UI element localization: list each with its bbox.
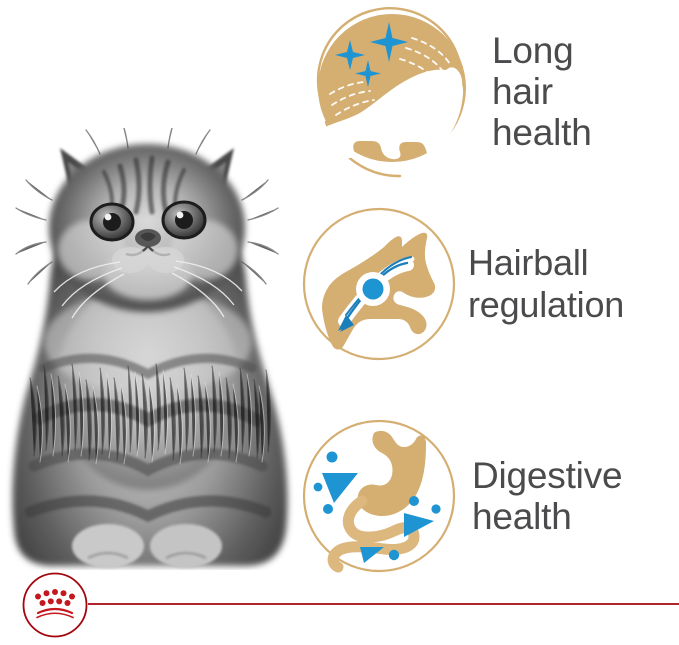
footer-brand [0,565,679,645]
benefit-item-long-hair-health: Long hair health [300,2,679,180]
benefit-label-long-hair-health: Long hair health [492,30,679,153]
hairball-cat-icon [300,205,458,363]
benefit-item-digestive-health: Digestive health [300,412,679,580]
persian-cat-photo [0,128,296,570]
benefit-label-hairball-regulation: Hairball regulation [468,242,679,326]
benefit-item-hairball-regulation: Hairball regulation [300,205,679,363]
benefit-label-digestive-health: Digestive health [472,455,679,537]
brand-crown-arcs [37,609,73,618]
long-hair-cat-icon [300,2,478,180]
brand-logo-ring [24,574,87,637]
promo-panel: Long hair health H [0,0,679,645]
brand-crown-dots [35,589,75,606]
stomach-intestine-icon [300,417,458,575]
